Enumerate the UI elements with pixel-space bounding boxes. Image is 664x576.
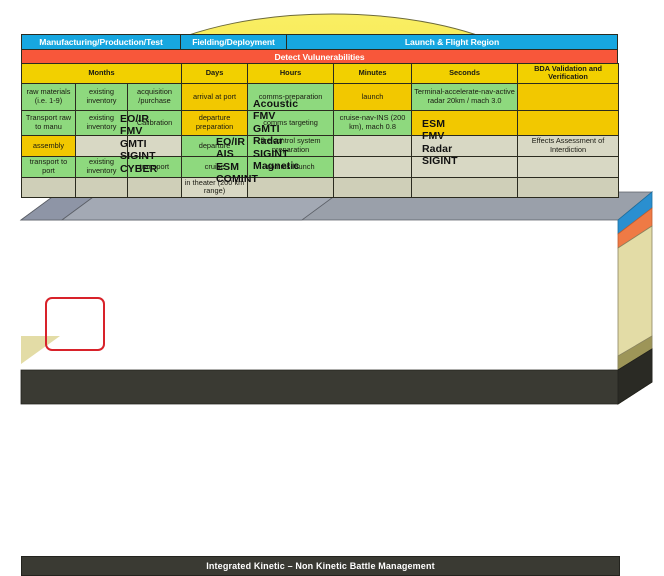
table-cell-r0-c5[interactable]: launch xyxy=(334,83,412,110)
table-row: raw materials (i.e. 1-9)existing invento… xyxy=(22,83,619,110)
timeline-slab: Integrated Kinetic – Non Kinetic Battle … xyxy=(0,186,664,414)
header-minutes: Minutes xyxy=(334,64,412,84)
bottom-bar: Integrated Kinetic – Non Kinetic Battle … xyxy=(21,556,620,576)
table-cell-r1-c0[interactable]: Transport raw to manu xyxy=(22,110,76,135)
table-cell-r3-c0[interactable]: transport to port xyxy=(22,156,76,177)
header-hours: Hours xyxy=(248,64,334,84)
table-cell-r2-c7[interactable]: Effects Assessment of Interdiction xyxy=(518,135,619,156)
bottom-bar-label: Integrated Kinetic – Non Kinetic Battle … xyxy=(206,561,435,571)
table-cell-r4-c7[interactable] xyxy=(518,177,619,197)
table-cell-r0-c0[interactable]: raw materials (i.e. 1-9) xyxy=(22,83,76,110)
phase-launch-flight[interactable]: Launch & Flight Region xyxy=(286,35,617,49)
table-body: raw materials (i.e. 1-9)existing invento… xyxy=(22,83,619,197)
timeline-table: Months Days Hours Minutes Seconds BDA Va… xyxy=(21,63,619,198)
detect-band-row: Detect Vulunerabilities xyxy=(21,49,618,63)
timeline-front-face: Manufacturing/Production/Test Fielding/D… xyxy=(21,34,618,197)
header-bda: BDA Validation and Verification xyxy=(518,64,619,84)
table-cell-r0-c2[interactable]: acquisition /purchase xyxy=(128,83,182,110)
table-cell-r0-c3[interactable]: arrival at port xyxy=(182,83,248,110)
slab-3d-decoration xyxy=(0,186,664,414)
table-cell-r1-c5[interactable]: cruise-nav-INS (200 km), mach 0.8 xyxy=(334,110,412,135)
phase-fielding[interactable]: Fielding/Deployment xyxy=(180,35,286,49)
table-cell-r4-c2[interactable] xyxy=(128,177,182,197)
table-cell-r4-c4[interactable] xyxy=(248,177,334,197)
table-row: Transport raw to manuexisting inventoryC… xyxy=(22,110,619,135)
table-cell-r1-c7[interactable] xyxy=(518,110,619,135)
header-days: Days xyxy=(182,64,248,84)
table-cell-r1-c3[interactable]: departure preparation xyxy=(182,110,248,135)
detect-vulnerabilities-label: Detect Vulunerabilities xyxy=(22,50,617,63)
inner-sensor-stack: Acoustic FMV GMTI Radar SIGINT Magnetic xyxy=(253,98,299,172)
phase-manufacturing[interactable]: Manufacturing/Production/Test xyxy=(22,35,180,49)
table-cell-r0-c6[interactable]: Terminal-accelerate-nav-active radar 20k… xyxy=(412,83,518,110)
table-cell-r3-c7[interactable] xyxy=(518,156,619,177)
table-row: transport to portexisting inventorytrans… xyxy=(22,156,619,177)
header-seconds: Seconds xyxy=(412,64,518,84)
flight-sensor-stack: ESM FMV Radar SIGINT xyxy=(422,118,458,168)
middle-sensor-stack: EO/IR AIS ESM COMINT xyxy=(216,136,258,186)
table-cell-r2-c5[interactable] xyxy=(334,135,412,156)
header-months: Months xyxy=(22,64,182,84)
phase-band-row: Manufacturing/Production/Test Fielding/D… xyxy=(21,34,618,49)
table-row: assemblydeparturefire control system pre… xyxy=(22,135,619,156)
table-row: in theater (200 km range) xyxy=(22,177,619,197)
table-cell-r3-c5[interactable] xyxy=(334,156,412,177)
table-cell-r4-c6[interactable] xyxy=(412,177,518,197)
table-cell-r0-c1[interactable]: existing inventory xyxy=(76,83,128,110)
table-cell-r0-c7[interactable] xyxy=(518,83,619,110)
diagram-root: EO/IR FMV GMTI SIGINT CYBER EO/IR AIS ES… xyxy=(0,0,664,414)
table-cell-r4-c1[interactable] xyxy=(76,177,128,197)
table-cell-r2-c0[interactable]: assembly xyxy=(22,135,76,156)
table-cell-r4-c5[interactable] xyxy=(334,177,412,197)
table-header-row: Months Days Hours Minutes Seconds BDA Va… xyxy=(22,64,619,84)
outer-sensor-stack: EO/IR FMV GMTI SIGINT CYBER xyxy=(120,113,157,175)
table-cell-r4-c0[interactable] xyxy=(22,177,76,197)
